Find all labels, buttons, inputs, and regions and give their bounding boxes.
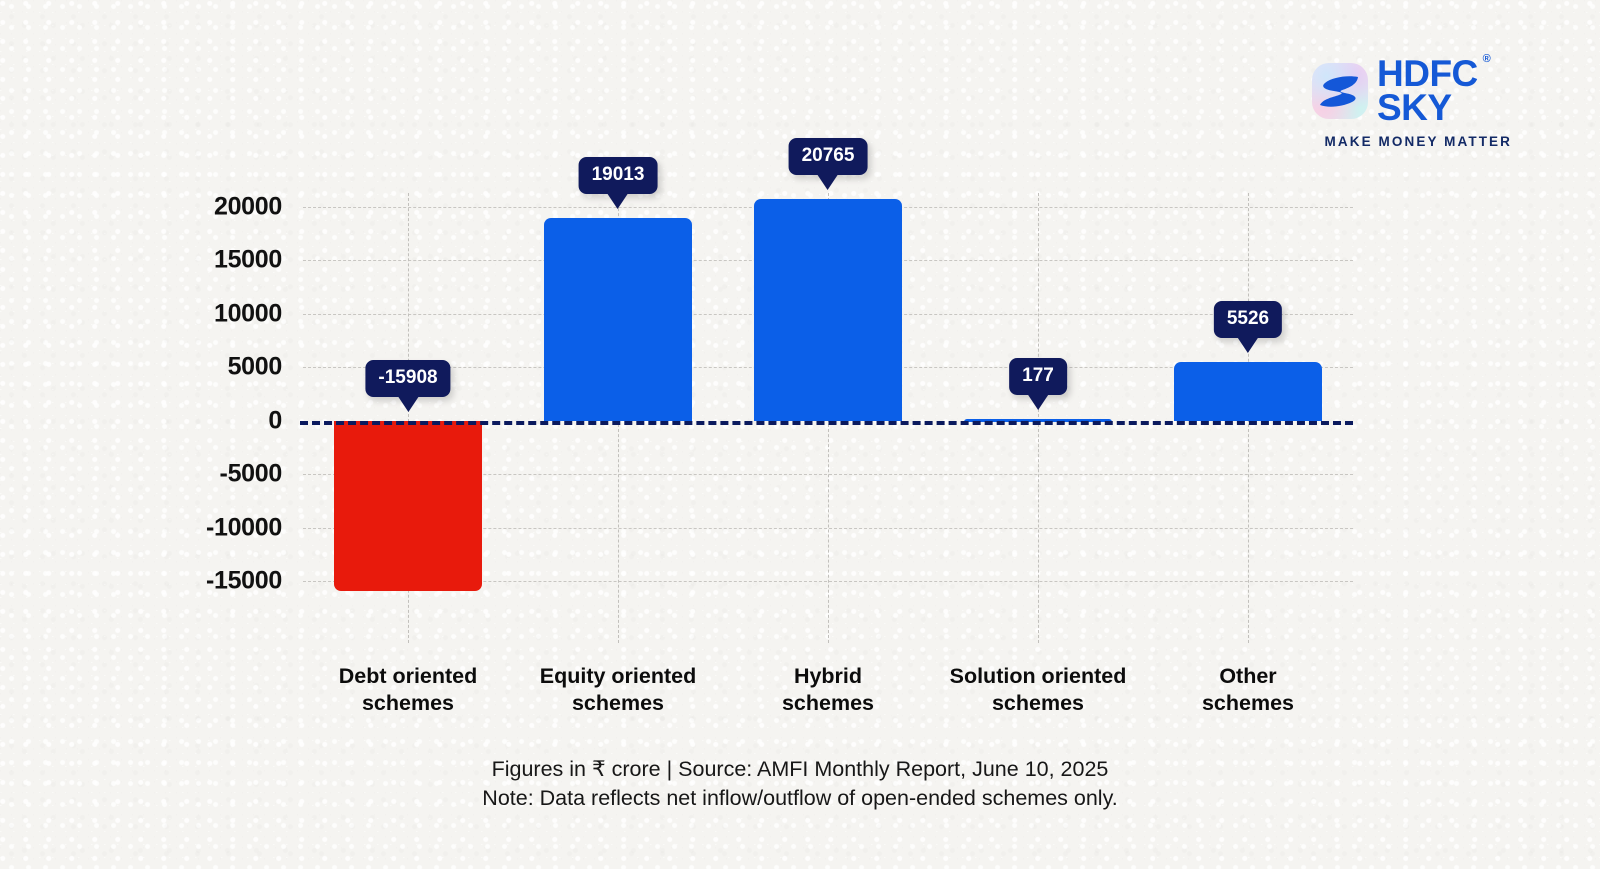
y-axis-tick-label: 20000 [214, 193, 282, 222]
data-label-value: 5526 [1214, 301, 1282, 338]
footnote-source: Figures in ₹ crore | Source: AMFI Monthl… [0, 755, 1600, 784]
x-axis-category-label: Equity oriented schemes [540, 663, 696, 717]
data-label-pointer-icon [818, 175, 838, 190]
y-axis-tick-label: -10000 [206, 513, 282, 542]
data-label-pointer-icon [608, 194, 628, 209]
y-axis-tick-label: 10000 [214, 299, 282, 328]
y-axis-tick-label: 5000 [228, 353, 282, 382]
bar[interactable] [334, 421, 482, 591]
data-label-value: -15908 [365, 360, 450, 397]
data-label-pointer-icon [1028, 395, 1048, 410]
bar[interactable] [544, 218, 692, 421]
chart-footnote: Figures in ₹ crore | Source: AMFI Monthl… [0, 755, 1600, 813]
data-label-pointer-icon [1238, 338, 1258, 353]
x-axis-category-label: Hybrid schemes [782, 663, 874, 717]
data-label-value: 177 [1009, 358, 1067, 395]
data-label: -15908 [365, 360, 450, 397]
data-label: 5526 [1214, 301, 1282, 338]
y-axis-tick-label: -15000 [206, 567, 282, 596]
data-label-value: 20765 [789, 138, 868, 175]
bar[interactable] [754, 199, 902, 421]
footnote-note: Note: Data reflects net inflow/outflow o… [0, 784, 1600, 813]
infographic-canvas: HDFC SKY ® MAKE MONEY MATTER 20000150001… [0, 0, 1600, 869]
y-axis-tick-label: -5000 [220, 460, 282, 489]
data-label: 19013 [579, 157, 658, 194]
y-axis-tick-label: 0 [268, 406, 282, 435]
x-axis-category-label: Solution oriented schemes [950, 663, 1127, 717]
data-label-pointer-icon [398, 397, 418, 412]
bar-chart: 20000150001000050000-5000-10000-15000-15… [0, 0, 1600, 869]
x-axis-category-label: Other schemes [1202, 663, 1294, 717]
x-axis-category-label: Debt oriented schemes [339, 663, 478, 717]
plot-area [303, 180, 1353, 620]
bar[interactable] [1174, 362, 1322, 421]
data-label: 177 [1009, 358, 1067, 395]
data-label: 20765 [789, 138, 868, 175]
y-axis-tick-label: 15000 [214, 246, 282, 275]
data-label-value: 19013 [579, 157, 658, 194]
zero-baseline [300, 421, 1353, 425]
